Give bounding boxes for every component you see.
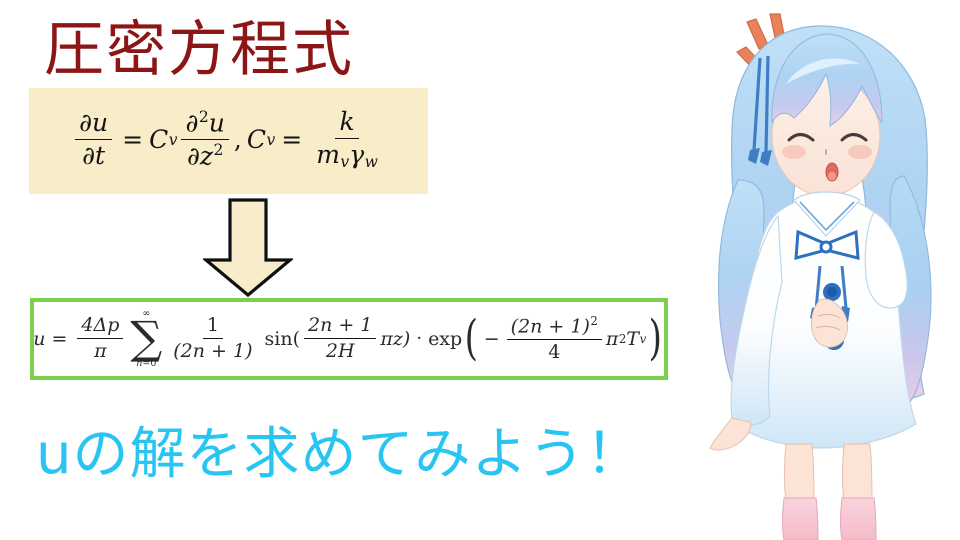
- cheek-left: [782, 145, 806, 159]
- comma-separator: ,: [233, 125, 247, 154]
- slide-canvas: 圧密方程式 ∂u ∂t = Cv ∂2u ∂z2 , Cv = k mvγw: [0, 0, 960, 540]
- du-dt-numerator: ∂u: [75, 109, 112, 140]
- d2u-dz2-fraction: ∂2u ∂z2: [181, 109, 228, 172]
- sock-left: [783, 498, 819, 540]
- coefficient-denominator: π: [90, 339, 111, 363]
- cv-subscript-1: v: [168, 131, 177, 149]
- sin-argument-fraction: 2n + 1 2H: [304, 315, 376, 363]
- coefficient-numerator: 4Δp: [77, 315, 123, 339]
- multiplication-dot: ·: [410, 328, 428, 349]
- cheek-right: [848, 145, 872, 159]
- exp-arg-denominator: 4: [544, 340, 564, 364]
- cv-subscript-2: v: [266, 131, 275, 149]
- hand-left: [710, 418, 751, 450]
- exp-arg-numerator: (2n + 1)2: [507, 315, 602, 340]
- exp-close-paren: ): [649, 326, 662, 352]
- leg-right: [843, 444, 873, 502]
- leg-left: [785, 444, 815, 502]
- cv-symbol-1: C: [149, 125, 168, 154]
- mv-gammaw-denominator: mvγw: [312, 139, 382, 172]
- sin-argument-tail: πz): [380, 328, 410, 350]
- sigma-glyph: ∑: [130, 319, 162, 358]
- sock-right: [841, 498, 877, 540]
- pore-pressure-solution: u = 4Δp π ∞ ∑ n=0 1 (2n + 1) sin( 2n + 1…: [33, 309, 665, 369]
- u-symbol: u: [33, 328, 45, 350]
- exp-open-paren: (: [465, 326, 478, 352]
- pi-symbol: π: [606, 328, 619, 350]
- equals-sign-2: =: [275, 125, 308, 154]
- du-dt-fraction: ∂u ∂t: [75, 109, 112, 171]
- equation-box-primary: ∂u ∂t = Cv ∂2u ∂z2 , Cv = k mvγw: [29, 88, 428, 194]
- exp-function: exp: [428, 328, 462, 350]
- sin-function: sin(: [261, 328, 300, 350]
- dz2-denominator: ∂z2: [183, 140, 227, 171]
- time-factor-subscript: v: [639, 332, 646, 346]
- exp-argument-fraction: (2n + 1)2 4: [507, 315, 602, 364]
- term-numerator: 1: [203, 315, 223, 339]
- equals-sign-1: =: [116, 125, 149, 154]
- equals-sign-3: =: [45, 328, 73, 350]
- page-title: 圧密方程式: [44, 14, 354, 86]
- sum-lower-limit: n=0: [136, 359, 156, 369]
- cv-symbol-2: C: [247, 125, 266, 154]
- d2u-numerator: ∂2u: [181, 109, 228, 140]
- down-arrow-icon: [203, 198, 293, 298]
- k-numerator: k: [335, 108, 358, 139]
- caption-text: uの解を求めてみよう！: [36, 420, 643, 490]
- sin-arg-numerator: 2n + 1: [304, 315, 376, 339]
- anime-girl-illustration: [690, 0, 960, 540]
- sin-arg-denominator: 2H: [322, 339, 359, 363]
- summation-symbol: ∞ ∑ n=0: [130, 309, 162, 369]
- equation-box-solution: u = 4Δp π ∞ ∑ n=0 1 (2n + 1) sin( 2n + 1…: [30, 298, 668, 380]
- pi-exponent: 2: [618, 332, 626, 346]
- term-denominator: (2n + 1): [169, 339, 256, 363]
- one-over-2n1-fraction: 1 (2n + 1): [169, 315, 256, 363]
- du-dt-denominator: ∂t: [78, 140, 109, 171]
- time-factor-symbol: T: [626, 328, 639, 350]
- consolidation-equation: ∂u ∂t = Cv ∂2u ∂z2 , Cv = k mvγw: [71, 108, 386, 174]
- k-over-mvgammaw-fraction: k mvγw: [312, 108, 382, 172]
- coefficient-fraction: 4Δp π: [77, 315, 123, 363]
- minus-sign: −: [481, 328, 503, 350]
